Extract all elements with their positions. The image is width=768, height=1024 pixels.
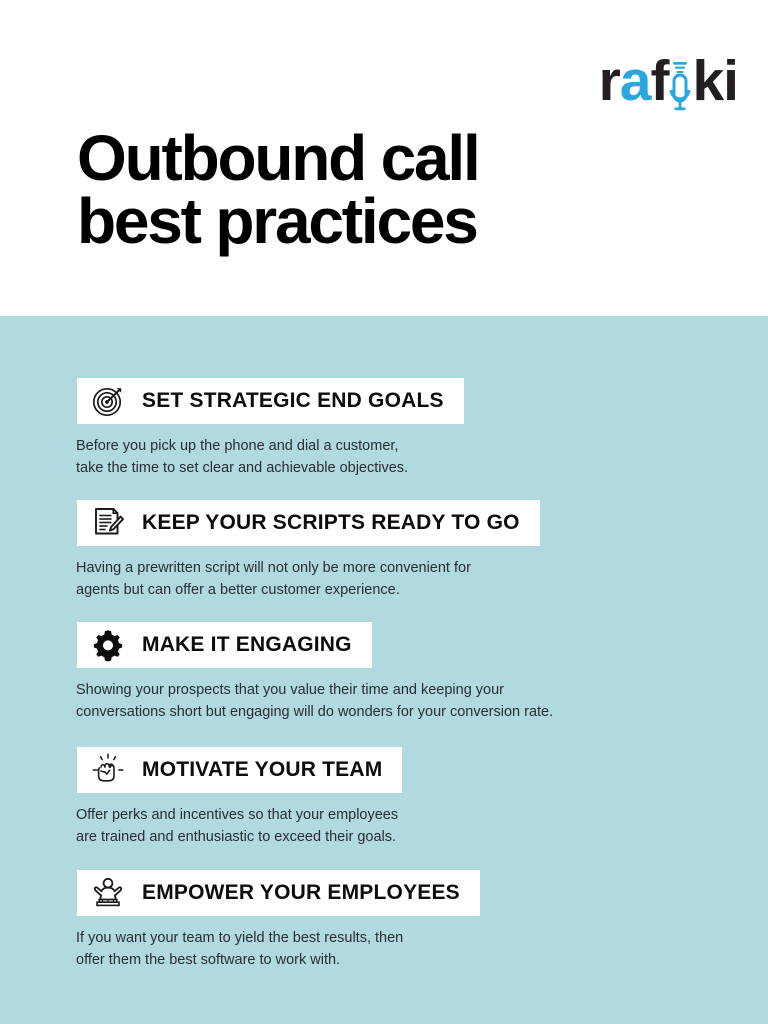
practice-card-1[interactable]: SET STRATEGIC END GOALS <box>77 378 464 424</box>
practice-section-3: MAKE IT ENGAGING Showing your prospects … <box>0 622 768 723</box>
practice-section-1: SET STRATEGIC END GOALS Before you pick … <box>0 378 768 479</box>
practice-title-3: MAKE IT ENGAGING <box>142 633 352 657</box>
practice-body-3: Showing your prospects that you value th… <box>76 679 768 723</box>
practice-title-2: KEEP YOUR SCRIPTS READY TO GO <box>142 511 520 535</box>
practice-section-2: KEEP YOUR SCRIPTS READY TO GO Having a p… <box>0 500 768 601</box>
practice-card-3[interactable]: MAKE IT ENGAGING <box>77 622 372 668</box>
poster-body: SET STRATEGIC END GOALS Before you pick … <box>0 316 768 1024</box>
practice-title-1: SET STRATEGIC END GOALS <box>142 389 444 413</box>
page-title: Outbound call best practices <box>77 127 717 254</box>
gear-icon <box>91 628 125 662</box>
practice-card-2[interactable]: KEEP YOUR SCRIPTS READY TO GO <box>77 500 540 546</box>
logo-letter-f: f <box>650 53 668 110</box>
logo-letters-ki: ki <box>692 53 738 110</box>
practice-body-4: Offer perks and incentives so that your … <box>76 804 768 848</box>
practice-body-5: If you want your team to yield the best … <box>76 927 768 971</box>
practice-body-1: Before you pick up the phone and dial a … <box>76 435 768 479</box>
chess-figure-trophy-icon <box>91 876 125 910</box>
page-title-line-2: best practices <box>77 190 717 253</box>
document-pencil-icon <box>91 506 125 540</box>
logo-letter-r: r <box>599 53 620 110</box>
logo-letter-a: a <box>620 53 651 110</box>
infographic-poster: raf ki Outbound call best practices <box>0 0 768 1024</box>
poster-header: raf ki Outbound call best practices <box>0 0 768 316</box>
microphone-icon <box>669 60 691 112</box>
practice-card-5[interactable]: EMPOWER YOUR EMPLOYEES <box>77 870 480 916</box>
target-bullseye-icon <box>91 384 125 418</box>
practice-title-4: MOTIVATE YOUR TEAM <box>142 758 382 782</box>
practice-card-4[interactable]: MOTIVATE YOUR TEAM <box>77 747 402 793</box>
practice-section-4: MOTIVATE YOUR TEAM Offer perks and incen… <box>0 747 768 848</box>
logo-wordmark: raf ki <box>599 53 738 110</box>
raised-fist-icon <box>91 753 125 787</box>
rafiki-logo: raf ki <box>599 52 738 110</box>
page-title-line-1: Outbound call <box>77 127 717 190</box>
practice-title-5: EMPOWER YOUR EMPLOYEES <box>142 881 460 905</box>
practice-section-5: EMPOWER YOUR EMPLOYEES If you want your … <box>0 870 768 971</box>
practice-body-2: Having a prewritten script will not only… <box>76 557 768 601</box>
